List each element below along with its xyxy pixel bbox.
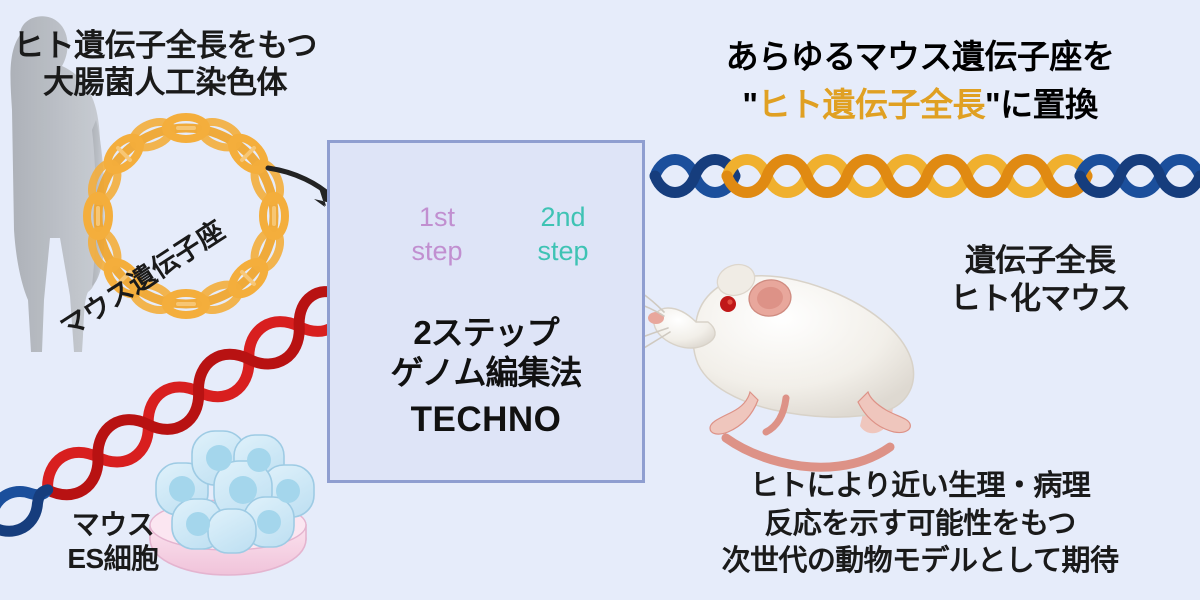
top-left-caption: ヒト遺伝子全長をもつ 大腸菌人工染色体 xyxy=(0,28,330,101)
quote-close: " xyxy=(985,86,1000,123)
step1-label: 1st step xyxy=(382,201,492,269)
step2-label: 2nd step xyxy=(508,201,618,269)
top-right-tail: に置換 xyxy=(1000,86,1098,123)
method-name: 2ステップ ゲノム編集法 xyxy=(330,313,642,394)
technology-box: 1st step 2nd step 2ステップ ゲノム編集法 TECHNO xyxy=(327,140,645,483)
white-mouse-illustration xyxy=(614,260,914,467)
top-right-line1: あらゆるマウス遺伝子座を xyxy=(640,30,1200,78)
es-cells-label: マウス ES細胞 xyxy=(18,508,208,576)
figure-canvas: ヒト遺伝子全長をもつ 大腸菌人工染色体 あらゆるマウス遺伝子座を "ヒト遺伝子全… xyxy=(0,0,1200,600)
outcome-caption: ヒトにより近い生理・病理 反応を示す可能性をもつ 次世代の動物モデルとして期待 xyxy=(640,468,1200,581)
highlight-text: ヒト遺伝子全長 xyxy=(758,86,986,123)
humanized-locus-dna-icon xyxy=(655,160,1200,193)
method-acronym: TECHNO xyxy=(330,400,642,440)
quote-open: " xyxy=(742,86,757,123)
humanized-mouse-label: 遺伝子全長 ヒト化マウス xyxy=(880,242,1200,318)
top-right-line2: "ヒト遺伝子全長"に置換 xyxy=(640,78,1200,126)
top-right-caption: あらゆるマウス遺伝子座を "ヒト遺伝子全長"に置換 xyxy=(640,30,1200,126)
